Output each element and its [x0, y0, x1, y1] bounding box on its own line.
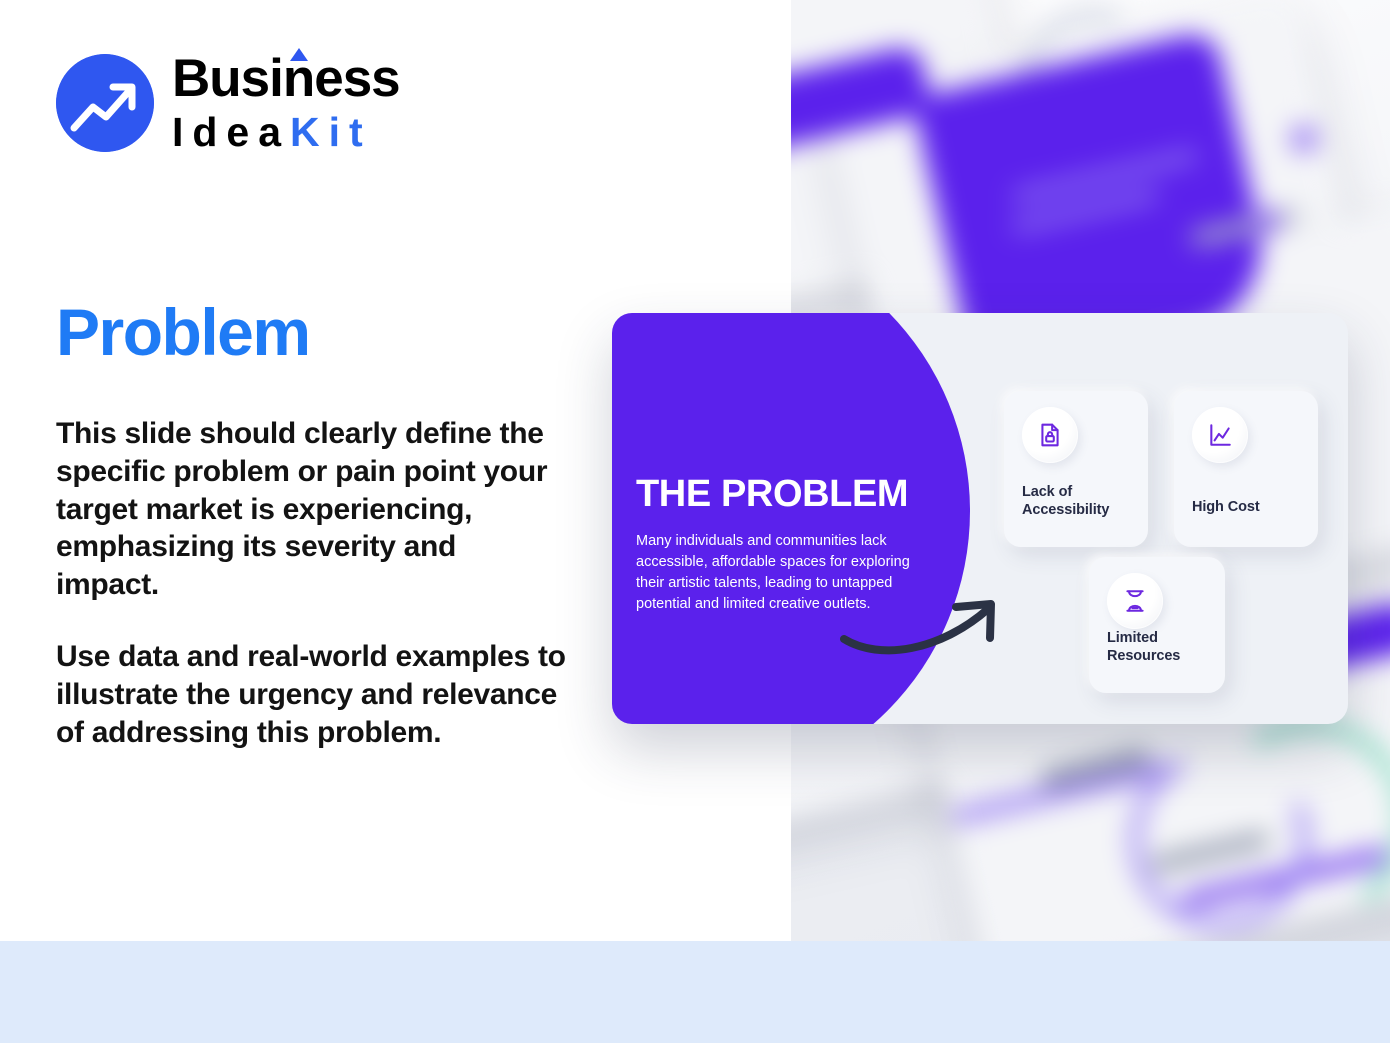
slide-title: THE PROBLEM [636, 473, 908, 516]
brand-wordmark: Business Idea Kit [172, 52, 400, 153]
chevron-up-accent-icon [290, 48, 308, 61]
feature-tile-label: High Cost [1192, 498, 1306, 516]
slide-page: Business Idea Kit Problem This slide sho… [0, 0, 1390, 1043]
brand-name-accent-text: Kit [290, 112, 372, 153]
description-paragraph-1: This slide should clearly define the spe… [56, 415, 566, 604]
document-lock-icon [1022, 407, 1078, 463]
feature-tile-high-cost[interactable]: High Cost [1174, 391, 1318, 547]
brand-name-line2-text: Idea [172, 112, 290, 153]
growth-arrow-circle-icon [56, 54, 154, 152]
page-title: Problem [56, 294, 310, 370]
curved-arrow-icon [840, 591, 1010, 663]
feature-tile-label: Limited Resources [1107, 629, 1213, 665]
brand-name-line1: Business [172, 52, 400, 105]
background-dot [1290, 125, 1318, 153]
description-paragraph-2: Use data and real-world examples to illu… [56, 638, 566, 751]
feature-tile-label: Lack of Accessibility [1022, 483, 1136, 519]
brand-name-line2: Idea Kit [172, 112, 400, 153]
slide-preview-card[interactable]: THE PROBLEM Many individuals and communi… [612, 313, 1348, 724]
brand-logo: Business Idea Kit [56, 52, 400, 153]
background-dot [1258, 210, 1280, 232]
bottom-accent-band [0, 941, 1390, 1043]
feature-tile-lack-of-accessibility[interactable]: Lack of Accessibility [1004, 391, 1148, 547]
brand-name-line1-text: Business [172, 49, 400, 108]
description-block: This slide should clearly define the spe… [56, 415, 566, 751]
feature-tile-limited-resources[interactable]: Limited Resources [1089, 557, 1225, 693]
hourglass-icon [1107, 573, 1163, 629]
line-chart-icon [1192, 407, 1248, 463]
